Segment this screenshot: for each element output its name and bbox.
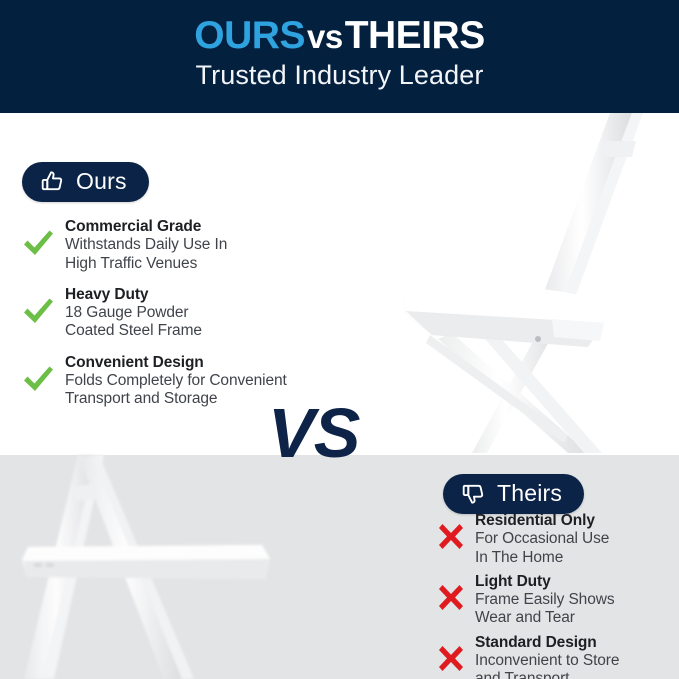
title-ours: OURS <box>194 14 305 57</box>
page-title: OURSvsTHEIRS <box>0 0 679 57</box>
feature-desc-line1: Inconvenient to Store <box>475 652 619 670</box>
feature-desc-line1: For Occasional Use <box>475 530 609 548</box>
comparison-infographic: OURSvsTHEIRS Trusted Industry Leader Our… <box>0 0 679 679</box>
feature-text: Standard Design Inconvenient to Store an… <box>475 634 619 679</box>
thumbs-down-icon <box>461 481 486 506</box>
theirs-badge-label: Theirs <box>497 482 562 505</box>
ours-feature-list: Commercial Grade Withstands Daily Use In… <box>20 218 330 422</box>
feature-desc-line2: Wear and Tear <box>475 609 614 627</box>
check-icon <box>20 292 56 330</box>
ours-badge-label: Ours <box>76 170 127 193</box>
feature-title: Residential Only <box>475 512 609 530</box>
feature-desc-line1: Frame Easily Shows <box>475 591 614 609</box>
feature-text: Convenient Design Folds Completely for C… <box>65 354 287 409</box>
feature-text: Commercial Grade Withstands Daily Use In… <box>65 218 227 273</box>
feature-text: Light Duty Frame Easily Shows Wear and T… <box>475 573 614 628</box>
list-item: Commercial Grade Withstands Daily Use In… <box>20 218 330 273</box>
feature-desc-line2: In The Home <box>475 549 609 567</box>
feature-text: Residential Only For Occasional Use In T… <box>475 512 609 567</box>
feature-text: Heavy Duty 18 Gauge Powder Coated Steel … <box>65 286 202 341</box>
list-item: Residential Only For Occasional Use In T… <box>436 512 679 567</box>
check-icon <box>20 224 56 262</box>
feature-title: Commercial Grade <box>65 218 227 236</box>
feature-title: Convenient Design <box>65 354 287 372</box>
feature-title: Light Duty <box>475 573 614 591</box>
list-item: Heavy Duty 18 Gauge Powder Coated Steel … <box>20 286 330 341</box>
feature-desc-line2: Coated Steel Frame <box>65 322 202 340</box>
feature-title: Standard Design <box>475 634 619 652</box>
title-theirs: THEIRS <box>345 14 485 57</box>
feature-desc-line1: Folds Completely for Convenient <box>65 372 287 390</box>
cross-icon <box>436 520 466 552</box>
title-vs: vs <box>305 18 345 55</box>
header-band: OURSvsTHEIRS Trusted Industry Leader <box>0 0 679 113</box>
theirs-badge: Theirs <box>443 474 584 514</box>
ours-badge: Ours <box>22 162 149 202</box>
feature-desc-line1: Withstands Daily Use In <box>65 236 227 254</box>
feature-desc-line2: High Traffic Venues <box>65 255 227 273</box>
feature-desc-line2: and Transport <box>475 670 619 679</box>
feature-desc-line1: 18 Gauge Powder <box>65 304 202 322</box>
theirs-chair-image <box>0 455 290 679</box>
cross-icon <box>436 581 466 613</box>
feature-title: Heavy Duty <box>65 286 202 304</box>
check-icon <box>20 360 56 398</box>
theirs-feature-list: Residential Only For Occasional Use In T… <box>436 512 679 679</box>
feature-desc-line2: Transport and Storage <box>65 390 287 408</box>
thumbs-up-icon <box>40 169 65 194</box>
cross-icon <box>436 642 466 674</box>
list-item: Standard Design Inconvenient to Store an… <box>436 634 679 679</box>
page-subtitle: Trusted Industry Leader <box>0 57 679 91</box>
vs-divider-label: VS <box>268 398 359 468</box>
list-item: Light Duty Frame Easily Shows Wear and T… <box>436 573 679 628</box>
ours-chair-image <box>392 113 679 455</box>
